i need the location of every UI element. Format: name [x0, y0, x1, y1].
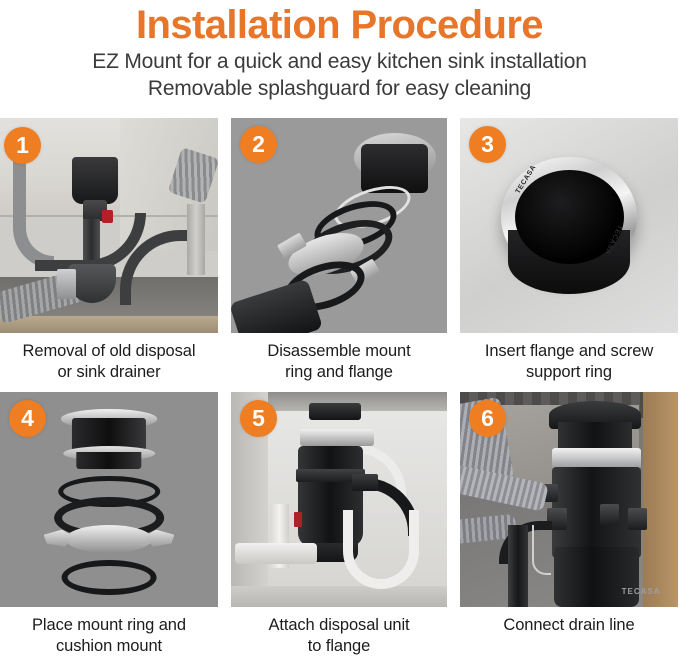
subtitle-line-2: Removable splashguard for easy cleaning — [0, 75, 679, 102]
steps-row-2: 4 Place mount ring and cushion mount — [0, 392, 679, 666]
step-badge-2: 2 — [240, 126, 277, 163]
step-badge-3: 3 — [469, 126, 506, 163]
caption-line-1: Attach disposal unit — [231, 615, 447, 636]
installation-procedure-infographic: Installation Procedure EZ Mount for a qu… — [0, 0, 679, 649]
caption-line-1: Place mount ring and — [0, 615, 218, 636]
caption-line-1: Insert flange and screw — [460, 341, 678, 362]
step-caption-6: Connect drain line — [460, 607, 678, 666]
step-card-3: TECASA TECASA 3 Insert flange and screw … — [460, 118, 678, 392]
caption-line-1: Removal of old disposal — [0, 341, 218, 362]
header: Installation Procedure EZ Mount for a qu… — [0, 0, 679, 102]
step-image-6: TECASA 6 — [460, 392, 678, 607]
p-trap — [343, 510, 419, 589]
step-card-1: 1 Removal of old disposal or sink draine… — [0, 118, 218, 392]
step-caption-3: Insert flange and screw support ring — [460, 333, 678, 392]
step-card-4: 4 Place mount ring and cushion mount — [0, 392, 218, 666]
step-caption-2: Disassemble mount ring and flange — [231, 333, 447, 392]
caption-line-2: or sink drainer — [0, 362, 218, 383]
disposal-neck — [558, 422, 632, 450]
page-title: Installation Procedure — [0, 2, 679, 48]
vertical-pipe — [187, 204, 204, 275]
caption-line-2: cushion mount — [0, 636, 218, 657]
drain-line — [508, 525, 528, 607]
cabinet-floor — [231, 586, 447, 608]
wire-hook — [532, 525, 551, 574]
step-image-1: 1 — [0, 118, 218, 333]
mount-collar — [309, 403, 361, 420]
step-badge-6: 6 — [469, 400, 506, 437]
clamp-band — [300, 429, 373, 446]
mount-lug-2 — [600, 504, 620, 526]
step-card-5: 5 Attach disposal unit to flange — [231, 392, 447, 666]
caption-line-1: Disassemble mount — [231, 341, 447, 362]
subtitle: EZ Mount for a quick and easy kitchen si… — [0, 48, 679, 102]
step-badge-5: 5 — [240, 400, 277, 437]
disposal-unit-top — [231, 279, 323, 333]
steps-grid: 1 Removal of old disposal or sink draine… — [0, 118, 679, 666]
step-caption-5: Attach disposal unit to flange — [231, 607, 447, 666]
flange-lower-barrel — [76, 452, 141, 469]
mount-clamp-band — [552, 448, 641, 470]
step-caption-4: Place mount ring and cushion mount — [0, 607, 218, 666]
step-caption-1: Removal of old disposal or sink drainer — [0, 333, 218, 392]
step-badge-1: 1 — [4, 127, 41, 164]
caption-line-2: support ring — [460, 362, 678, 383]
step-badge-4: 4 — [9, 400, 46, 437]
disposal-lower-body — [554, 547, 639, 607]
discharge-outlet — [352, 474, 378, 491]
caption-line-1: Connect drain line — [460, 615, 678, 636]
old-disposal-body — [72, 157, 118, 204]
snap-ring — [62, 560, 157, 596]
step-card-6: TECASA 6 Connect drain line — [460, 392, 678, 666]
red-marker — [102, 210, 113, 223]
red-label — [294, 512, 303, 527]
hose-clamp — [57, 269, 77, 299]
caption-line-2: to flange — [231, 636, 447, 657]
caption-line-2: ring and flange — [231, 362, 447, 383]
step-image-4: 4 — [0, 392, 218, 607]
step-image-3: TECASA TECASA 3 — [460, 118, 678, 333]
mount-lug-3 — [628, 508, 648, 530]
step-image-5: 5 — [231, 392, 447, 607]
step-card-2: 2 Disassemble mount ring and flange — [231, 118, 447, 392]
wood-baseboard — [0, 316, 218, 333]
mount-ring — [65, 525, 152, 553]
steps-row-1: 1 Removal of old disposal or sink draine… — [0, 118, 679, 392]
subtitle-line-1: EZ Mount for a quick and easy kitchen si… — [0, 48, 679, 75]
wood-panel — [643, 392, 678, 607]
horizontal-drain-pipe — [235, 543, 317, 565]
step-image-2: 2 — [231, 118, 447, 333]
brand-label: TECASA — [622, 587, 661, 596]
